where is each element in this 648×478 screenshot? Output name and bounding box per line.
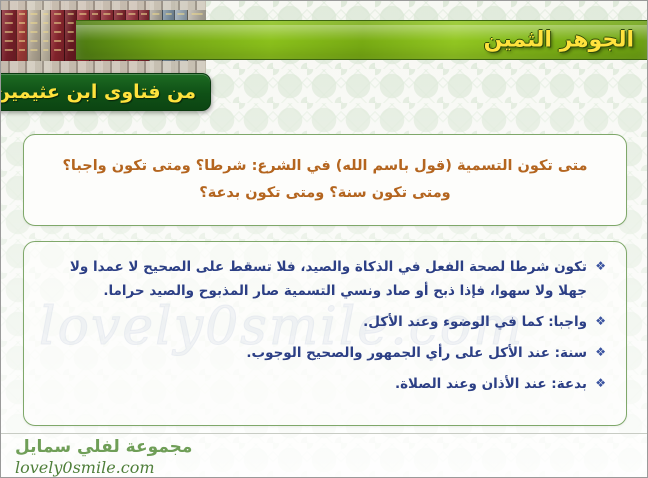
footer-arabic-credit: مجموعة لفلي سمايل: [15, 437, 192, 457]
footer-divider: [1, 433, 648, 434]
answer-item-text: تكون شرطا لصحة الفعل في الذكاة والصيد، ف…: [70, 259, 587, 299]
subtitle-text: من فتاوى ابن عثيمين: [0, 81, 196, 103]
answer-item-text: سنة: عند الأكل على رأي الجمهور والصحيح ا…: [246, 345, 587, 361]
title-ribbon: الجوهر الثمين: [76, 20, 648, 60]
answer-item-text: واجبا: كما في الوضوء وعند الأكل.: [363, 314, 587, 330]
floret-bullet-icon: ❖: [595, 342, 606, 363]
answer-card: ❖ تكون شرطا لصحة الفعل في الذكاة والصيد،…: [23, 241, 627, 426]
answer-list: ❖ تكون شرطا لصحة الفعل في الذكاة والصيد،…: [46, 255, 606, 403]
answer-item: ❖ واجبا: كما في الوضوء وعند الأكل.: [46, 310, 606, 334]
answer-item-text: بدعة: عند الأذان وعند الصلاة.: [395, 376, 587, 392]
question-text: متى تكون التسمية (قول باسم الله) في الشر…: [50, 153, 600, 207]
subtitle-plaque: من فتاوى ابن عثيمين: [0, 73, 211, 111]
answer-item: ❖ سنة: عند الأكل على رأي الجمهور والصحيح…: [46, 341, 606, 365]
answer-item: ❖ بدعة: عند الأذان وعند الصلاة.: [46, 372, 606, 396]
main-title: الجوهر الثمين: [484, 28, 634, 53]
footer-website-url[interactable]: lovely0smile.com: [15, 458, 192, 477]
question-card: متى تكون التسمية (قول باسم الله) في الشر…: [23, 134, 627, 226]
floret-bullet-icon: ❖: [595, 311, 606, 332]
floret-bullet-icon: ❖: [595, 256, 606, 277]
floret-bullet-icon: ❖: [595, 373, 606, 394]
footer: مجموعة لفلي سمايل lovely0smile.com: [15, 437, 192, 477]
slide-canvas: الجوهر الثمين من فتاوى ابن عثيمين lovely…: [0, 0, 648, 478]
answer-item: ❖ تكون شرطا لصحة الفعل في الذكاة والصيد،…: [46, 255, 606, 303]
